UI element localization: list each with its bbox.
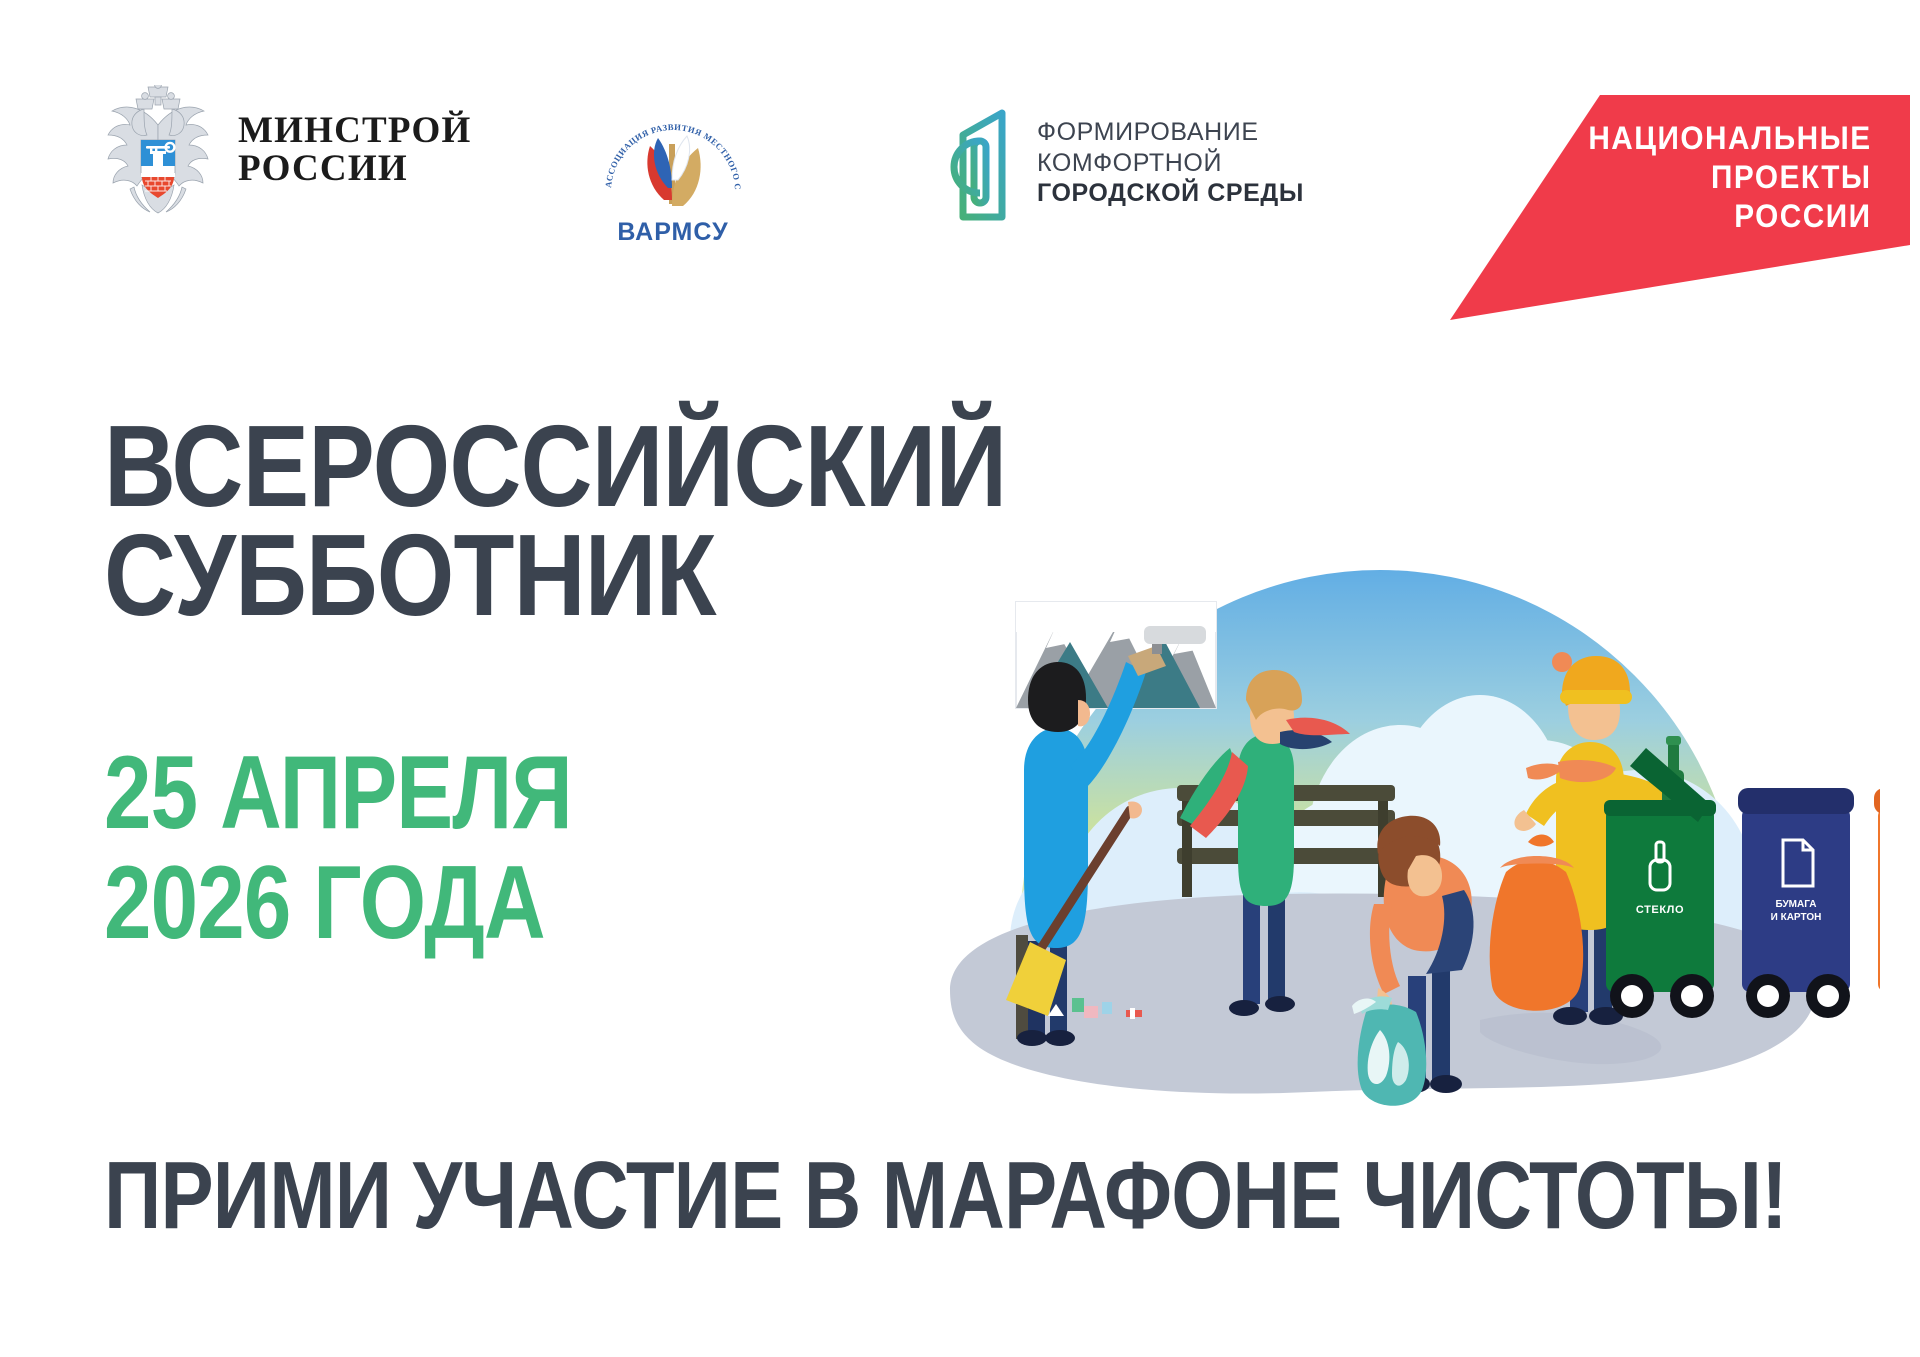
logo-minstroy: МИНСТРОЙ РОССИИ: [100, 85, 471, 215]
npr-line-2: ПРОЕКТЫ: [1589, 158, 1872, 197]
gks-line-1: ФОРМИРОВАНИЕ: [1037, 117, 1304, 148]
bin-paper: БУМАГА И КАРТОН: [1738, 788, 1854, 1018]
page-title: ВСЕРОССИЙСКИЙ СУББОТНИК: [104, 412, 1006, 630]
logo-national-projects: НАЦИОНАЛЬНЫЕ ПРОЕКТЫ РОССИИ: [1440, 95, 1910, 325]
headline-line-2: СУББОТНИК: [104, 521, 1006, 630]
npr-line-1: НАЦИОНАЛЬНЫЕ: [1589, 119, 1872, 158]
bin-plastic: ПЛАСТИК: [1874, 788, 1880, 1018]
minstroy-line-2: РОССИИ: [238, 150, 471, 188]
headline-line-1: ВСЕРОССИЙСКИЙ: [104, 412, 1006, 521]
building-f-mark-icon: [945, 105, 1013, 221]
event-date: 25 АПРЕЛЯ 2026 ГОДА: [104, 738, 572, 958]
bin-label-paper-1: БУМАГА: [1776, 899, 1817, 910]
minstroy-line-1: МИНСТРОЙ: [238, 112, 471, 150]
varmsu-leaf-emblem-icon: [647, 136, 700, 206]
double-headed-eagle-emblem-icon: [100, 85, 216, 215]
gks-wordmark: ФОРМИРОВАНИЕ КОМФОРТНОЙ ГОРОДСКОЙ СРЕДЫ: [1037, 117, 1304, 209]
gks-line-2: КОМФОРТНОЙ: [1037, 148, 1304, 179]
logo-varmsu: ВСЕРОССИЙСКАЯ АССОЦИАЦИЯ РАЗВИТИЯ МЕСТНО…: [588, 88, 758, 248]
minstroy-wordmark: МИНСТРОЙ РОССИИ: [238, 112, 471, 187]
date-line-2: 2026 ГОДА: [104, 848, 572, 958]
bin-label-paper-2: И КАРТОН: [1771, 912, 1822, 923]
bin-label-glass: СТЕКЛО: [1636, 904, 1684, 916]
date-line-1: 25 АПРЕЛЯ: [104, 738, 572, 848]
gks-line-3: ГОРОДСКОЙ СРЕДЫ: [1037, 178, 1304, 209]
national-projects-wordmark: НАЦИОНАЛЬНЫЕ ПРОЕКТЫ РОССИИ: [1589, 119, 1872, 236]
header-logo-strip: МИНСТРОЙ РОССИИ ВСЕРОССИЙСКАЯ АССОЦИАЦИЯ…: [0, 0, 1920, 300]
call-to-action-text: ПРИМИ УЧАСТИЕ В МАРАФОНЕ ЧИСТОТЫ!: [104, 1148, 1787, 1244]
npr-line-3: РОССИИ: [1589, 197, 1872, 236]
varmsu-abbr: ВАРМСУ: [617, 218, 728, 246]
logo-gorodskaya-sreda: ФОРМИРОВАНИЕ КОМФОРТНОЙ ГОРОДСКОЙ СРЕДЫ: [945, 105, 1304, 221]
illustration-volunteers-cleaning: СТЕКЛО БУМАГА И КАРТОН ПЛАСТИК: [880, 370, 1880, 1130]
